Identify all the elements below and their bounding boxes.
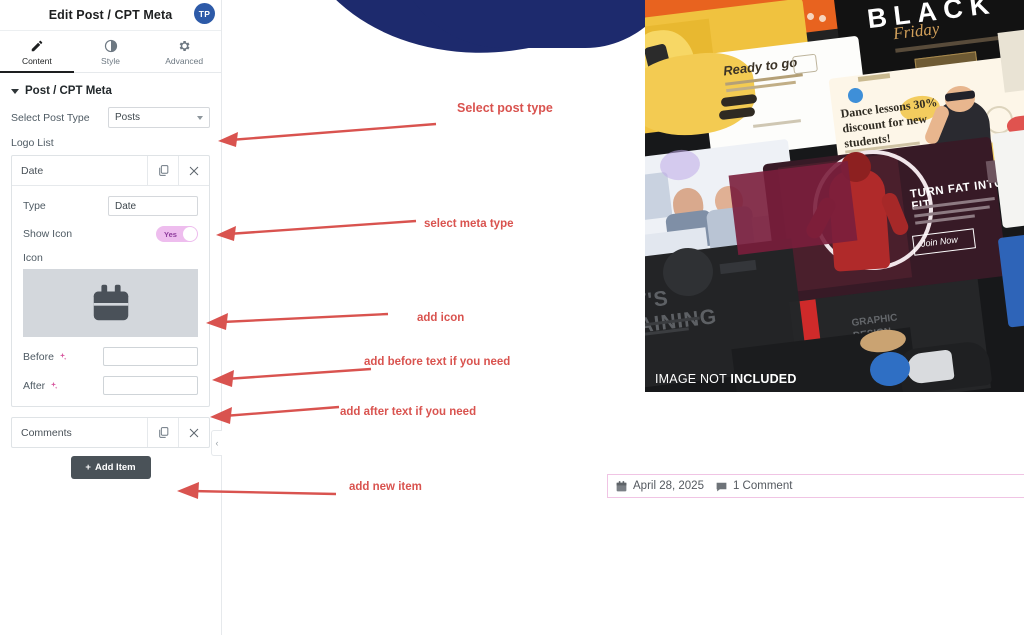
tab-content[interactable]: Content (0, 31, 74, 72)
show-icon-toggle-value: Yes (156, 230, 177, 239)
toggle-knob (183, 227, 197, 241)
panel-collapse-toggle[interactable]: ‹ (211, 430, 222, 456)
duplicate-button[interactable] (147, 156, 178, 185)
comment-icon (715, 480, 728, 493)
arrow-select-meta-type (200, 215, 420, 245)
tab-advanced-label: Advanced (165, 56, 203, 66)
image-not-included-watermark: IMAGE NOT INCLUDED (655, 372, 797, 386)
arrow-add-before-text (200, 362, 375, 390)
meta-type-label: Type (23, 200, 108, 212)
contrast-icon (104, 39, 118, 53)
dynamic-tags-icon[interactable] (58, 352, 67, 361)
pencil-icon (30, 39, 44, 53)
repeater-item-date: Date Type Date (11, 155, 210, 407)
watermark-normal: IMAGE NOT (655, 372, 730, 386)
plus-icon: + (85, 462, 91, 473)
panel-tabs: Content Style Advanced (0, 31, 221, 73)
annotation-add-icon: add icon (417, 312, 464, 324)
avatar[interactable]: TP (194, 3, 215, 24)
mockup-preview-image: BLACK Friday Ready to go Dance lessons 3… (645, 0, 1024, 392)
gear-icon (177, 39, 191, 53)
show-icon-row: Show Icon Yes (12, 226, 209, 242)
chevron-down-icon (11, 89, 19, 94)
meta-type-value: Date (115, 201, 191, 212)
page-title: Edit Post / CPT Meta (49, 8, 173, 22)
arrow-select-post-type (200, 118, 440, 154)
repeater-item-header[interactable]: Comments (12, 418, 209, 447)
select-post-type-row: Select Post Type Posts (0, 107, 221, 128)
annotation-add-after-text: add after text if you need (340, 406, 476, 418)
select-post-type-dropdown[interactable]: Posts (108, 107, 210, 128)
arrow-add-new-item (165, 478, 340, 506)
icon-preview-box[interactable] (23, 269, 198, 337)
preview-comments-text: 1 Comment (733, 480, 792, 492)
preview-date-text: April 28, 2025 (633, 480, 704, 492)
annotation-add-new-item: add new item (349, 481, 422, 493)
show-icon-toggle[interactable]: Yes (156, 226, 198, 242)
duplicate-button[interactable] (147, 418, 178, 447)
add-item-label: Add Item (95, 462, 136, 473)
after-text-label: After (23, 380, 103, 392)
meta-type-dropdown[interactable]: Date (108, 196, 198, 216)
watermark-bold: INCLUDED (730, 372, 796, 386)
before-text-label: Before (23, 351, 103, 363)
tab-style[interactable]: Style (74, 31, 148, 72)
add-item-button[interactable]: + Add Item (71, 456, 151, 479)
calendar-icon (615, 480, 628, 493)
after-text-row: After (12, 376, 209, 395)
after-text-label-text: After (23, 380, 45, 392)
close-icon (188, 427, 200, 439)
editor-panel: Edit Post / CPT Meta TP Content Style Ad… (0, 0, 222, 635)
repeater-item-title: Date (12, 156, 147, 185)
post-meta-preview: April 28, 2025 1 Comment (607, 474, 1024, 498)
annotation-add-before-text: add before text if you need (364, 356, 510, 368)
select-post-type-value: Posts (115, 112, 197, 123)
calendar-icon (88, 280, 134, 326)
select-post-type-label: Select Post Type (11, 112, 108, 124)
dynamic-tags-icon[interactable] (49, 381, 58, 390)
icon-field-label: Icon (12, 252, 209, 264)
repeater-item-body: Type Date Show Icon Yes Icon (12, 185, 209, 406)
preview-comments-item: 1 Comment (715, 480, 792, 493)
copy-icon (157, 164, 170, 177)
before-text-label-text: Before (23, 351, 54, 363)
repeater-item-header[interactable]: Date (12, 156, 209, 185)
before-text-row: Before (12, 347, 209, 366)
copy-icon (157, 426, 170, 439)
meta-type-row: Type Date (12, 196, 209, 216)
repeater-item-title: Comments (12, 418, 147, 447)
annotation-select-post-type: Select post type (457, 101, 553, 115)
arrow-add-after-text (198, 400, 343, 428)
arrow-add-icon (192, 305, 392, 335)
tab-content-label: Content (22, 56, 52, 66)
tab-advanced[interactable]: Advanced (147, 31, 221, 72)
before-text-input[interactable] (103, 347, 198, 366)
tab-style-label: Style (101, 56, 120, 66)
panel-header: Edit Post / CPT Meta TP (0, 0, 221, 31)
annotation-select-meta-type: select meta type (424, 218, 514, 230)
section-post-cpt-meta[interactable]: Post / CPT Meta (0, 73, 221, 107)
remove-button[interactable] (178, 156, 209, 185)
show-icon-label: Show Icon (23, 228, 156, 240)
logo-list-label: Logo List (0, 137, 221, 149)
section-title: Post / CPT Meta (25, 85, 112, 97)
preview-date-item: April 28, 2025 (615, 480, 704, 493)
close-icon (188, 165, 200, 177)
after-text-input[interactable] (103, 376, 198, 395)
repeater-item-comments: Comments (11, 417, 210, 448)
